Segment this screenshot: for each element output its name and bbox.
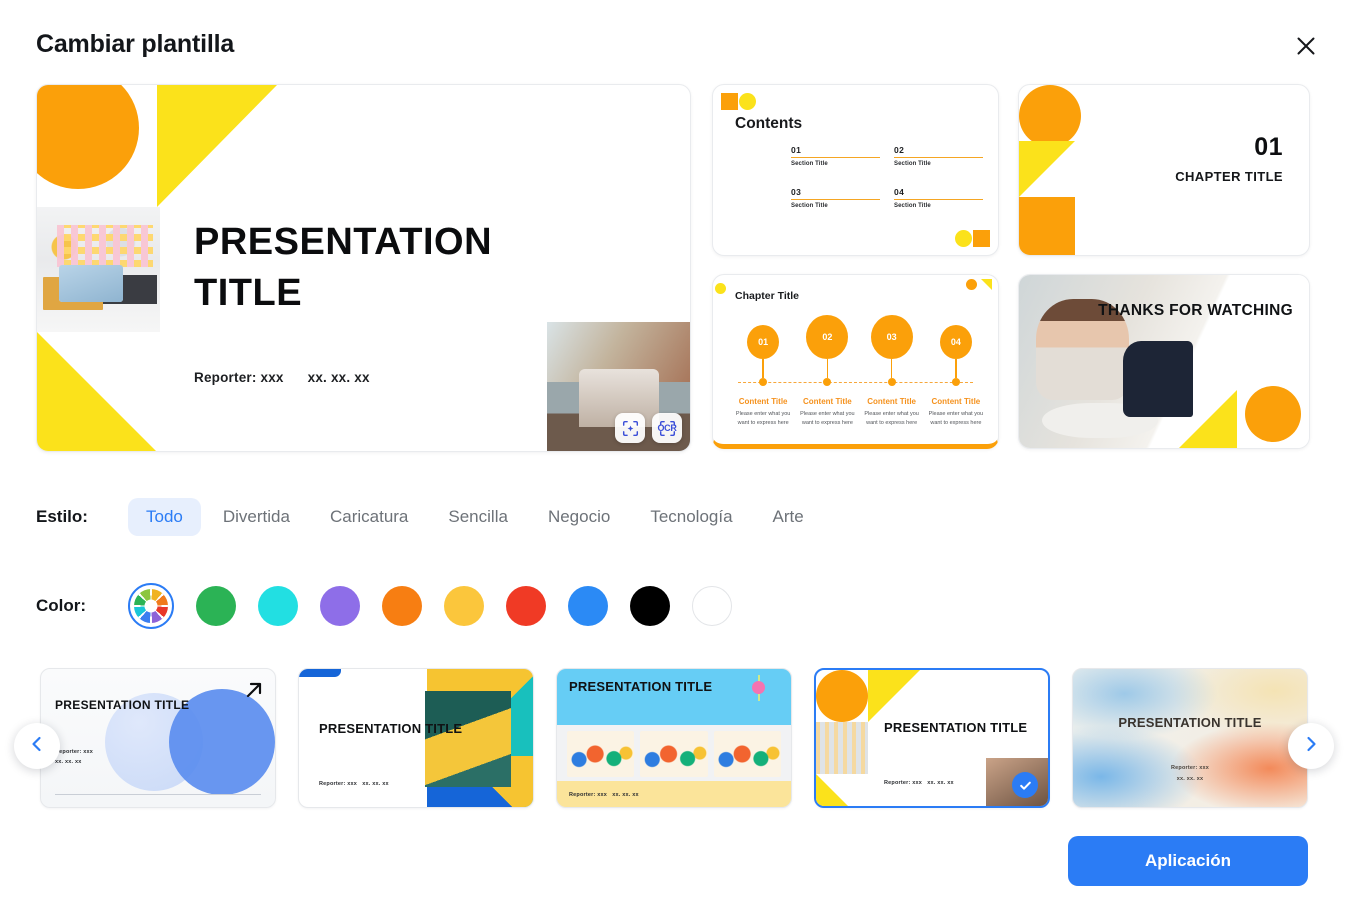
color-swatch-multicolor[interactable] <box>128 583 174 629</box>
thumbnail-date: xx. xx. xx <box>55 759 81 765</box>
style-chip-group: Todo Divertida Caricatura Sencilla Negoc… <box>128 498 822 536</box>
slide-date: xx. xx. xx <box>308 370 370 385</box>
contents-list: 01 Section Title 02 Section Title 03 Sec… <box>791 145 983 209</box>
ocr-button[interactable]: OCR <box>652 413 682 443</box>
yellow-triangle-shape <box>1019 141 1075 197</box>
template-carousel: PRESENTATION TITLE Reporter: xxx xx. xx.… <box>0 668 1350 810</box>
timeline-item: 02 Content Title Please enter what you w… <box>795 313 859 429</box>
thumbnail-reporter: Reporter: xxx xx. xx. xx <box>569 792 639 798</box>
timeline-bubble: 01 <box>747 325 779 359</box>
timeline-stem <box>955 359 957 378</box>
timeline-item-title: Content Title <box>932 397 981 406</box>
contents-item-number: 01 <box>791 145 880 155</box>
pink-dot-shape <box>752 681 765 694</box>
floating-tools: OCR <box>615 413 682 443</box>
timeline-node <box>952 378 960 386</box>
timeline-stem <box>827 359 829 378</box>
template-thumbnail-list: PRESENTATION TITLE Reporter: xxx xx. xx.… <box>40 668 1308 808</box>
template-thumbnail[interactable]: PRESENTATION TITLE Reporter: xxx xx. xx.… <box>298 668 534 808</box>
thumbnail-photo <box>425 691 511 787</box>
thumbnail-reporter-label: Reporter: xxx <box>319 781 357 787</box>
chapter-caption: CHAPTER TITLE <box>1175 169 1283 184</box>
color-filter-row: Color: <box>36 580 732 632</box>
color-swatch-green[interactable] <box>196 586 236 626</box>
orange-square-shape-bottom <box>973 230 990 247</box>
corner-shapes <box>966 279 992 290</box>
page-title: Cambiar plantilla <box>36 30 234 59</box>
style-chip-todo[interactable]: Todo <box>128 498 201 536</box>
timeline-bubble: 03 <box>871 315 913 359</box>
style-chip-arte[interactable]: Arte <box>755 498 822 536</box>
illustration <box>640 731 707 777</box>
thumbnail-title: PRESENTATION TITLE <box>319 719 462 739</box>
thumbnail-date: xx. xx. xx <box>612 792 638 798</box>
timeline-heading: Chapter Title <box>735 290 799 302</box>
color-filter-label: Color: <box>36 596 128 616</box>
thumbnail-reporter-label: Reporter: xxx <box>1171 765 1209 771</box>
color-swatch-orange[interactable] <box>382 586 422 626</box>
template-preview-area: PRESENTATION TITLE Reporter: xxxxx. xx. … <box>0 82 1350 460</box>
yellow-triangle-shape-bottom <box>816 774 852 808</box>
preview-slide-thanks[interactable]: THANKS FOR WATCHING <box>1018 274 1310 449</box>
ai-scan-button[interactable] <box>615 413 645 443</box>
color-swatch-blue[interactable] <box>568 586 608 626</box>
chapter-number: 01 <box>1254 133 1283 162</box>
timeline-bubble: 04 <box>940 325 972 359</box>
preview-slide-cover[interactable]: PRESENTATION TITLE Reporter: xxxxx. xx. … <box>36 84 691 452</box>
carousel-next-button[interactable] <box>1288 723 1334 769</box>
timeline-item-title: Content Title <box>803 397 852 406</box>
contents-item: 02 Section Title <box>894 145 983 167</box>
thumbnail-title: PRESENTATION TITLE <box>884 718 1027 738</box>
close-icon <box>1295 35 1317 57</box>
color-swatch-group <box>128 583 732 629</box>
slide-reporter-label: Reporter: xxx <box>194 370 284 385</box>
check-icon <box>1012 772 1038 798</box>
contents-item-number: 02 <box>894 145 983 155</box>
contents-item-rule <box>791 157 880 158</box>
style-chip-negocio[interactable]: Negocio <box>530 498 628 536</box>
slide-reporter: Reporter: xxxxx. xx. xx <box>194 370 370 385</box>
template-thumbnail[interactable]: PRESENTATION TITLE Reporter: xxx xx. xx.… <box>40 668 276 808</box>
orange-square-shape <box>1019 197 1075 256</box>
orange-square-shape <box>721 93 738 110</box>
ai-scan-icon <box>622 420 639 437</box>
color-swatch-yellow[interactable] <box>444 586 484 626</box>
contents-item: 04 Section Title <box>894 187 983 209</box>
thumbnail-title: PRESENTATION TITLE <box>1073 713 1307 733</box>
apply-button[interactable]: Aplicación <box>1068 836 1308 886</box>
contents-item-rule <box>894 157 983 158</box>
orange-circle-shape <box>1019 85 1081 147</box>
thumbnail-reporter: Reporter: xxx xx. xx. xx <box>1073 763 1307 785</box>
color-swatch-white[interactable] <box>692 586 732 626</box>
contents-item: 01 Section Title <box>791 145 880 167</box>
timeline-stem <box>762 359 764 378</box>
illustration <box>567 731 634 777</box>
slide-title: PRESENTATION TITLE <box>194 217 574 320</box>
orange-circle-shape <box>36 84 139 189</box>
yellow-circle-shape-bottom <box>955 230 972 247</box>
contents-item: 03 Section Title <box>791 187 880 209</box>
thumbnail-date: xx. xx. xx <box>927 780 953 786</box>
template-thumbnail[interactable]: PRESENTATION TITLE Reporter: xxx xx. xx.… <box>1072 668 1308 808</box>
timeline-item-text: Please enter what you want to express he… <box>798 410 856 429</box>
carousel-prev-button[interactable] <box>14 723 60 769</box>
change-template-dialog: Cambiar plantilla PRESENTATION TITLE Rep… <box>0 0 1350 908</box>
chevron-left-icon <box>27 734 47 759</box>
contents-item-number: 03 <box>791 187 880 197</box>
style-chip-caricatura[interactable]: Caricatura <box>312 498 426 536</box>
ocr-label: OCR <box>657 423 676 433</box>
timeline-columns: 01 Content Title Please enter what you w… <box>731 313 988 429</box>
chevron-right-icon <box>1301 734 1321 759</box>
contents-item-label: Section Title <box>894 203 983 209</box>
dialog-header: Cambiar plantilla <box>0 0 1350 82</box>
timeline-bubble: 02 <box>806 315 848 359</box>
contents-item-rule <box>894 199 983 200</box>
thumbnail-rule <box>55 794 261 795</box>
thumbnail-illustrations <box>567 731 781 777</box>
thumbnail-reporter: Reporter: xxx xx. xx. xx <box>319 781 389 787</box>
contents-item-rule <box>791 199 880 200</box>
blue-bar-shape <box>299 669 341 677</box>
orange-circle-shape <box>816 670 868 722</box>
style-filter-row: Estilo: Todo Divertida Caricatura Sencil… <box>36 496 822 538</box>
contents-item-label: Section Title <box>791 161 880 167</box>
thumbnail-title: PRESENTATION TITLE <box>569 677 712 697</box>
yellow-triangle-bottom-shape <box>37 332 158 452</box>
timeline-item: 04 Content Title Please enter what you w… <box>924 313 988 429</box>
yellow-triangle-shape <box>1179 390 1237 448</box>
contents-item-label: Section Title <box>894 161 983 167</box>
preview-slide-contents[interactable]: Contents 01 Section Title 02 Section Tit… <box>712 84 999 256</box>
style-chip-sencilla[interactable]: Sencilla <box>430 498 526 536</box>
timeline-node <box>888 378 896 386</box>
timeline-node <box>823 378 831 386</box>
thumbnail-title: PRESENTATION TITLE <box>55 697 189 714</box>
timeline-stem <box>891 359 893 378</box>
timeline-item-text: Please enter what you want to express he… <box>734 410 792 429</box>
yellow-triangle-shape <box>868 670 920 722</box>
timeline-item-title: Content Title <box>867 397 916 406</box>
template-thumbnail[interactable]: PRESENTATION TITLE Reporter: xxx xx. xx.… <box>556 668 792 808</box>
yellow-triangle-shape <box>157 85 277 207</box>
color-wheel-icon <box>134 589 168 623</box>
style-filter-label: Estilo: <box>36 507 128 527</box>
timeline-item-text: Please enter what you want to express he… <box>863 410 921 429</box>
thanks-text: THANKS FOR WATCHING <box>1098 301 1293 321</box>
yellow-dot-shape <box>715 283 726 294</box>
timeline-item-text: Please enter what you want to express he… <box>927 410 985 429</box>
style-chip-divertida[interactable]: Divertida <box>205 498 308 536</box>
thumbnail-photo <box>816 722 868 774</box>
timeline-node <box>759 378 767 386</box>
thumbnail-date: xx. xx. xx <box>1177 776 1203 782</box>
timeline-item-title: Content Title <box>739 397 788 406</box>
color-swatch-red[interactable] <box>506 586 546 626</box>
close-button[interactable] <box>1288 28 1324 64</box>
expand-arrow-icon[interactable] <box>243 679 265 706</box>
thumbnail-reporter-label: Reporter: xxx <box>55 749 93 755</box>
contents-item-label: Section Title <box>791 203 880 209</box>
style-chip-tecnologia[interactable]: Tecnología <box>632 498 750 536</box>
illustration <box>714 731 781 777</box>
preview-slide-timeline[interactable]: Chapter Title 01 Content Title Please en… <box>712 274 999 449</box>
thumbnail-reporter: Reporter: xxx xx. xx. xx <box>55 747 93 768</box>
contents-item-number: 04 <box>894 187 983 197</box>
thumbnail-reporter-label: Reporter: xxx <box>569 792 607 798</box>
contents-heading: Contents <box>735 115 802 133</box>
timeline-item: 01 Content Title Please enter what you w… <box>731 313 795 429</box>
thumbnail-reporter-label: Reporter: xxx <box>884 780 922 786</box>
color-swatch-cyan[interactable] <box>258 586 298 626</box>
thumbnail-reporter: Reporter: xxx xx. xx. xx <box>884 780 954 786</box>
preview-slide-chapter[interactable]: 01 CHAPTER TITLE <box>1018 84 1310 256</box>
orange-circle-shape <box>1245 386 1301 442</box>
color-swatch-black[interactable] <box>630 586 670 626</box>
timeline-item: 03 Content Title Please enter what you w… <box>860 313 924 429</box>
template-thumbnail-selected[interactable]: PRESENTATION TITLE Reporter: xxx xx. xx.… <box>814 668 1050 808</box>
slide-photo-team <box>37 207 160 332</box>
color-swatch-purple[interactable] <box>320 586 360 626</box>
thumbnail-date: xx. xx. xx <box>362 781 388 787</box>
yellow-circle-shape <box>739 93 756 110</box>
